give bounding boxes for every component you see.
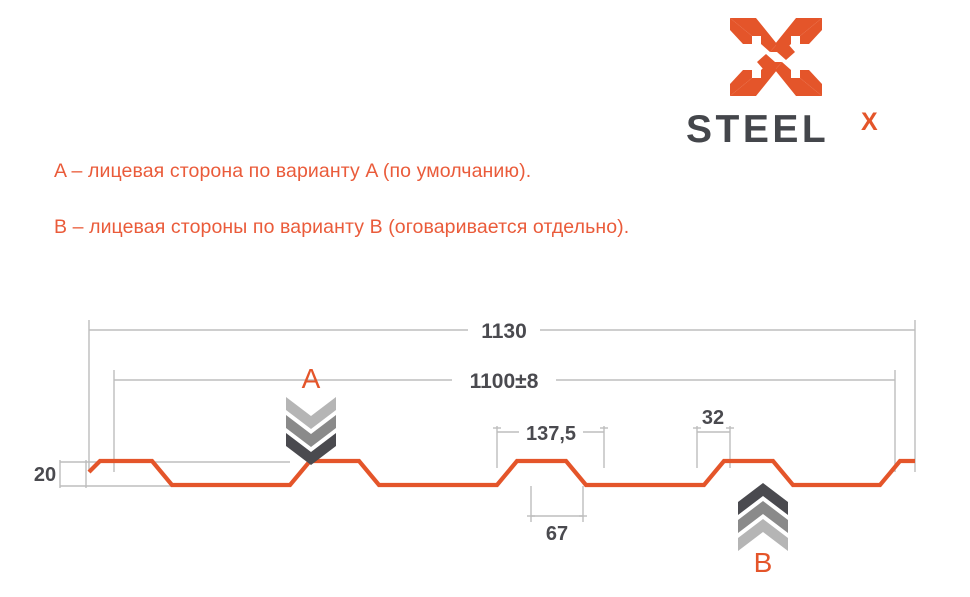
- dimension-label-pitch: 137,5: [526, 423, 576, 445]
- dimension-label-cover-width: 1100±8: [470, 370, 539, 393]
- dimension-label-total-width: 1130: [481, 320, 527, 343]
- dimension-label-crest-width: 32: [702, 407, 724, 429]
- marker-b-label: B: [754, 547, 773, 578]
- marker-a-label: A: [302, 363, 321, 394]
- legend-line-variant-a: A – лицевая сторона по варианту A (по ум…: [54, 160, 531, 183]
- dimension-label-rib-height: 20: [34, 464, 56, 486]
- brand-wordmark: STEEL X: [686, 108, 900, 150]
- corrugated-profile-line: [89, 461, 915, 485]
- legend-line-variant-b: B – лицевая стороны по варианту B (огова…: [54, 216, 629, 239]
- brand-logo: STEEL X: [686, 14, 900, 144]
- marker-variant-b: B: [738, 483, 788, 578]
- marker-variant-a: A: [286, 363, 336, 465]
- wordmark-x-superscript: X: [861, 108, 878, 136]
- chevron-down-triple-icon: [286, 397, 336, 465]
- profile-technical-drawing: 1130 1100±8 137,5 32: [0, 300, 970, 597]
- steelx-x-mark-icon: [730, 14, 822, 100]
- chevron-up-triple-icon: [738, 483, 788, 551]
- dimension-valley-width: [527, 486, 587, 522]
- dimension-label-valley-width: 67: [546, 523, 568, 545]
- wordmark-steel-text: STEEL: [686, 108, 829, 150]
